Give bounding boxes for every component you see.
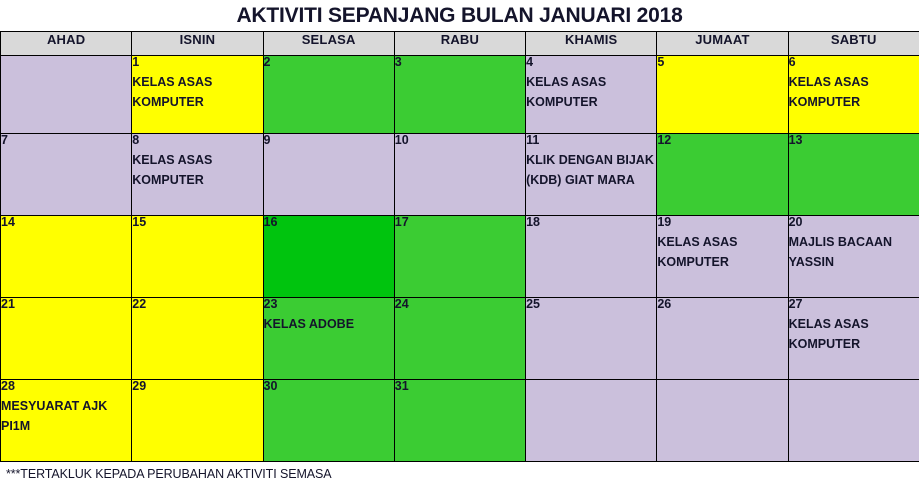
day-cell[interactable]: 25 <box>526 298 657 380</box>
day-cell[interactable]: 11KLIK DENGAN BIJAK (KDB) GIAT MARA <box>526 134 657 216</box>
day-number: 5 <box>657 56 787 69</box>
day-event: KELAS ASAS KOMPUTER <box>132 151 262 190</box>
day-event: MESYUARAT AJK PI1M <box>1 397 131 436</box>
calendar-week-row: 21 22 23KELAS ADOBE 24 25 26 27KELAS ASA… <box>1 298 919 380</box>
day-number: 21 <box>1 298 131 311</box>
page-title-bar: AKTIVITI SEPANJANG BULAN JANUARI 2018 <box>0 0 919 31</box>
day-cell[interactable]: 28MESYUARAT AJK PI1M <box>1 380 132 462</box>
day-cell[interactable]: 27KELAS ASAS KOMPUTER <box>788 298 919 380</box>
day-cell[interactable]: 13 <box>788 134 919 216</box>
day-cell[interactable] <box>1 56 132 134</box>
day-cell[interactable] <box>657 380 788 462</box>
calendar-body: 1KELAS ASAS KOMPUTER 2 3 4KELAS ASAS KOM… <box>1 56 919 462</box>
day-cell[interactable]: 15 <box>132 216 263 298</box>
day-number: 26 <box>657 298 787 311</box>
day-number: 9 <box>264 134 394 147</box>
calendar-page: AKTIVITI SEPANJANG BULAN JANUARI 2018 AH… <box>0 0 919 483</box>
day-cell[interactable]: 20MAJLIS BACAAN YASSIN <box>788 216 919 298</box>
calendar-table: AHAD ISNIN SELASA RABU KHAMIS JUMAAT SAB… <box>0 31 919 462</box>
calendar-week-row: 14 15 16 17 18 19KELAS ASAS KOMPUTER 20M… <box>1 216 919 298</box>
day-event: KELAS ASAS KOMPUTER <box>526 73 656 112</box>
day-cell[interactable]: 4KELAS ASAS KOMPUTER <box>526 56 657 134</box>
calendar-week-row: 7 8KELAS ASAS KOMPUTER 9 10 11KLIK DENGA… <box>1 134 919 216</box>
calendar-week-row: 28MESYUARAT AJK PI1M 29 30 31 <box>1 380 919 462</box>
day-number: 27 <box>789 298 919 311</box>
day-cell[interactable]: 26 <box>657 298 788 380</box>
page-title: AKTIVITI SEPANJANG BULAN JANUARI 2018 <box>236 5 682 26</box>
day-cell[interactable]: 18 <box>526 216 657 298</box>
day-cell[interactable]: 31 <box>394 380 525 462</box>
weekday-header-sabtu: SABTU <box>788 32 919 56</box>
day-event: KELAS ADOBE <box>264 315 394 334</box>
day-number: 19 <box>657 216 787 229</box>
day-cell[interactable]: 29 <box>132 380 263 462</box>
day-number: 10 <box>395 134 525 147</box>
day-event: KLIK DENGAN BIJAK (KDB) GIAT MARA <box>526 151 656 190</box>
day-cell[interactable]: 2 <box>263 56 394 134</box>
weekday-header-jumaat: JUMAAT <box>657 32 788 56</box>
day-cell[interactable]: 8KELAS ASAS KOMPUTER <box>132 134 263 216</box>
day-cell[interactable] <box>526 380 657 462</box>
day-number: 28 <box>1 380 131 393</box>
day-number: 16 <box>264 216 394 229</box>
day-number: 11 <box>526 134 656 147</box>
day-cell[interactable]: 19KELAS ASAS KOMPUTER <box>657 216 788 298</box>
day-event: KELAS ASAS KOMPUTER <box>789 73 919 112</box>
weekday-header-khamis: KHAMIS <box>526 32 657 56</box>
day-cell[interactable]: 16 <box>263 216 394 298</box>
day-number: 29 <box>132 380 262 393</box>
day-number: 30 <box>264 380 394 393</box>
day-number: 23 <box>264 298 394 311</box>
day-number: 14 <box>1 216 131 229</box>
day-cell[interactable]: 12 <box>657 134 788 216</box>
day-cell[interactable]: 21 <box>1 298 132 380</box>
day-number: 17 <box>395 216 525 229</box>
day-number: 8 <box>132 134 262 147</box>
day-cell[interactable]: 6KELAS ASAS KOMPUTER <box>788 56 919 134</box>
day-cell[interactable]: 17 <box>394 216 525 298</box>
day-number: 4 <box>526 56 656 69</box>
day-number: 22 <box>132 298 262 311</box>
day-number: 15 <box>132 216 262 229</box>
day-cell[interactable]: 14 <box>1 216 132 298</box>
day-cell[interactable] <box>788 380 919 462</box>
day-cell[interactable]: 9 <box>263 134 394 216</box>
day-number: 13 <box>789 134 919 147</box>
weekday-header-rabu: RABU <box>394 32 525 56</box>
day-cell[interactable]: 1KELAS ASAS KOMPUTER <box>132 56 263 134</box>
day-event: KELAS ASAS KOMPUTER <box>132 73 262 112</box>
day-cell[interactable]: 30 <box>263 380 394 462</box>
day-event: MAJLIS BACAAN YASSIN <box>789 233 919 272</box>
footer-disclaimer-text: ***TERTAKLUK KEPADA PERUBAHAN AKTIVITI S… <box>6 467 331 481</box>
day-number: 18 <box>526 216 656 229</box>
day-number: 31 <box>395 380 525 393</box>
day-number: 3 <box>395 56 525 69</box>
day-number: 20 <box>789 216 919 229</box>
day-event: KELAS ASAS KOMPUTER <box>789 315 919 354</box>
weekday-header-selasa: SELASA <box>263 32 394 56</box>
day-number: 1 <box>132 56 262 69</box>
day-number: 12 <box>657 134 787 147</box>
day-number: 24 <box>395 298 525 311</box>
day-number: 25 <box>526 298 656 311</box>
day-cell[interactable]: 24 <box>394 298 525 380</box>
day-cell[interactable]: 7 <box>1 134 132 216</box>
calendar-week-row: 1KELAS ASAS KOMPUTER 2 3 4KELAS ASAS KOM… <box>1 56 919 134</box>
day-event: KELAS ASAS KOMPUTER <box>657 233 787 272</box>
day-cell[interactable]: 10 <box>394 134 525 216</box>
weekday-header-isnin: ISNIN <box>132 32 263 56</box>
day-number: 2 <box>264 56 394 69</box>
day-number: 6 <box>789 56 919 69</box>
day-number: 7 <box>1 134 131 147</box>
calendar-header-row: AHAD ISNIN SELASA RABU KHAMIS JUMAAT SAB… <box>1 32 919 56</box>
day-cell[interactable]: 3 <box>394 56 525 134</box>
day-cell[interactable]: 5 <box>657 56 788 134</box>
day-cell[interactable]: 23KELAS ADOBE <box>263 298 394 380</box>
weekday-header-ahad: AHAD <box>1 32 132 56</box>
day-cell[interactable]: 22 <box>132 298 263 380</box>
footer-disclaimer: ***TERTAKLUK KEPADA PERUBAHAN AKTIVITI S… <box>0 462 919 485</box>
